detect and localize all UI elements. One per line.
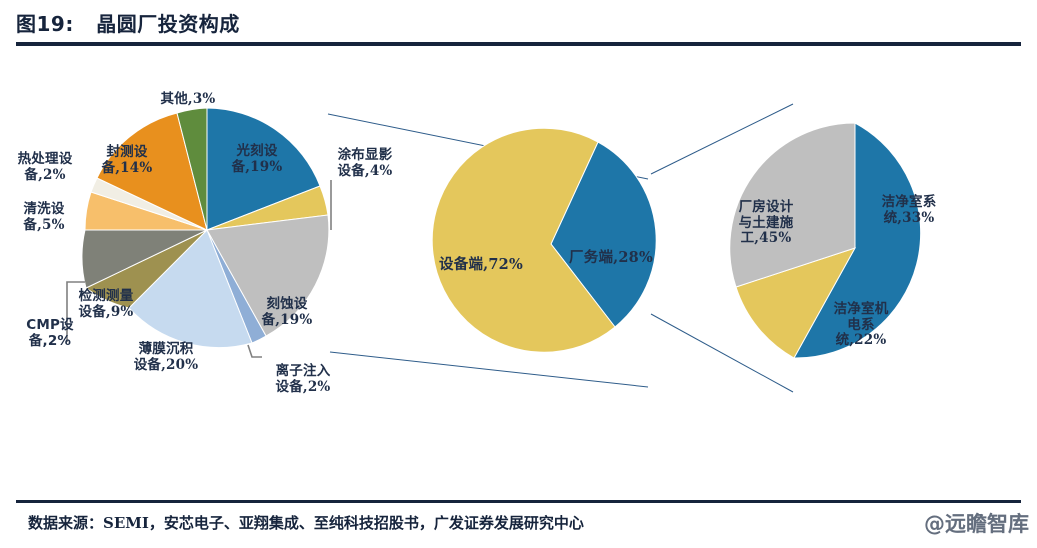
figure-header: 图19: 晶圆厂投资构成 — [16, 8, 1021, 46]
watermark-text: @远瞻智库 — [924, 512, 1029, 536]
pie-label-facility-side: 厂务端,28% — [565, 250, 657, 266]
pie-label-coating-developing: 涂布显影 设备,4% — [324, 148, 406, 179]
pie-label-plant-design-civil: 厂房设计 与土建施 工,45% — [728, 200, 804, 247]
pie-label-thermal: 热处理设 备,2% — [4, 152, 86, 183]
pie-label-cleaning: 清洗设 备,5% — [9, 202, 79, 233]
pie-label-photolithography: 光刻设 备,19% — [223, 144, 291, 175]
header-divider — [16, 42, 1021, 46]
pie-label-cleanroom-mep: 洁净室机 电系 统,22% — [826, 302, 896, 349]
figure-number: 图19: — [16, 12, 74, 36]
pie-label-other: 其他,3% — [148, 92, 228, 108]
leader-ion-implant — [248, 345, 262, 357]
pie-label-cleanroom-system: 洁净室系 统,33% — [874, 195, 944, 226]
page-title: 图19: 晶圆厂投资构成 — [16, 8, 1021, 37]
source-note: 数据来源：SEMI，安芯电子、亚翔集成、至纯科技招股书，广发证券发展研究中心 — [28, 512, 584, 533]
chart-area: 其他,3% 光刻设 备,19% 涂布显影 设备,4% 刻蚀设 备,19% 离子注… — [0, 52, 1037, 496]
pie-total — [432, 128, 656, 352]
connector-line-bottom — [330, 352, 648, 387]
pie-label-equipment-side: 设备端,72% — [432, 257, 530, 273]
pie-label-packaging-test: 封测设 备,14% — [92, 145, 162, 176]
footer-divider — [16, 500, 1021, 503]
figure-title-text: 晶圆厂投资构成 — [96, 12, 240, 36]
pie-label-etching: 刻蚀设 备,19% — [253, 297, 321, 328]
pie-label-ion-implant: 离子注入 设备,2% — [262, 364, 344, 395]
pie-charts-svg — [0, 52, 1037, 496]
pie-label-thin-film: 薄膜沉积 设备,20% — [126, 342, 206, 373]
watermark: @远瞻智库 — [924, 508, 1029, 538]
pie-label-inspection: 检测测量 设备,9% — [66, 289, 146, 320]
pie-label-cmp: CMP设 备,2% — [15, 318, 85, 349]
